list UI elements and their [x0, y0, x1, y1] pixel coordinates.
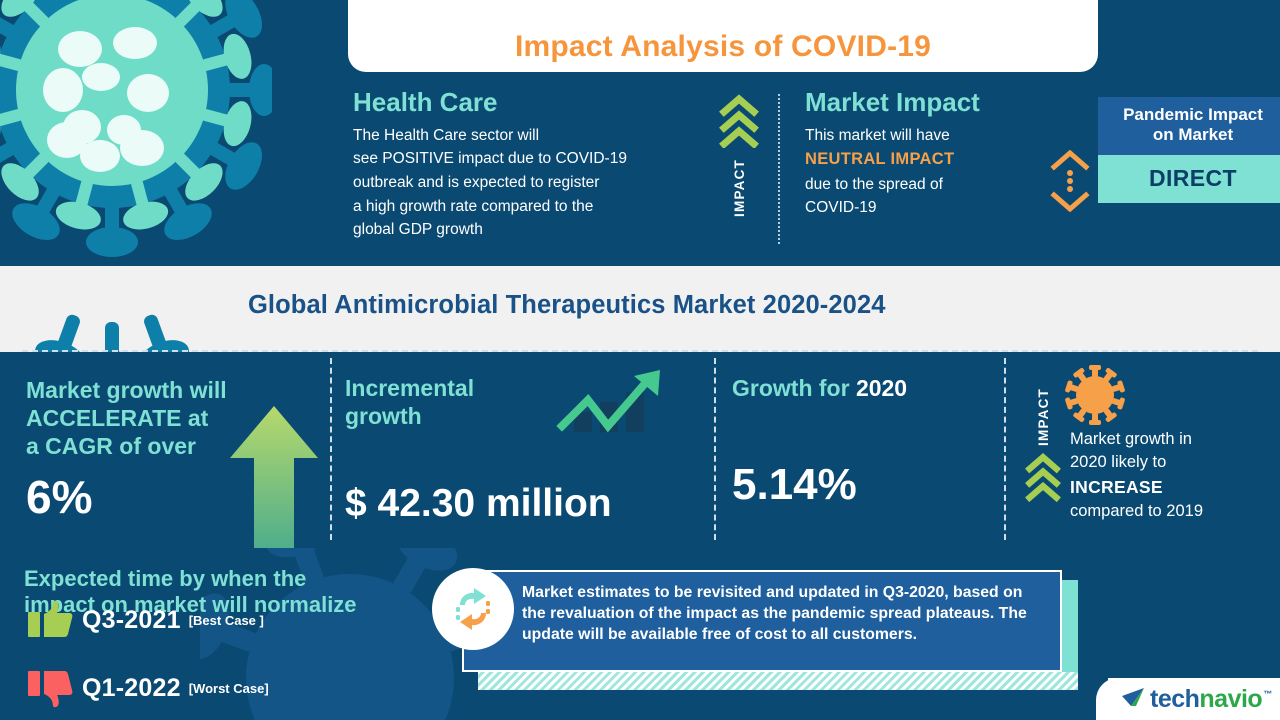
impact-right-vertical-group: IMPACT	[1022, 388, 1064, 538]
worst-case-tag: [Worst Case]	[189, 681, 269, 696]
virus-legs-decoration	[0, 266, 272, 352]
page-title-pill: Impact Analysis of COVID-19	[348, 0, 1098, 72]
worst-case-quarter: Q1-2022	[82, 674, 181, 703]
mi-highlight: NEUTRAL IMPACT	[805, 147, 1020, 172]
market-impact-body: This market will have NEUTRAL IMPACT due…	[805, 124, 1020, 220]
pandemic-impact-value: DIRECT	[1098, 155, 1280, 203]
impact-right-highlight: INCREASE	[1070, 475, 1272, 500]
impact-right-label: IMPACT	[1036, 388, 1051, 446]
pandemic-heading-line1: Pandemic Impact	[1108, 105, 1278, 125]
hc-line-1: The Health Care sector will	[353, 124, 713, 148]
divider-top-1	[778, 94, 780, 244]
impact-vertical-label: IMPACT	[732, 159, 747, 217]
mi-line-3: COVID-19	[805, 196, 1020, 220]
impact-indicator-top: IMPACT	[718, 94, 760, 244]
mi-line-2: due to the spread of	[805, 173, 1020, 197]
green-up-arrow-icon	[228, 404, 320, 548]
incremental-value: $ 42.30 million	[345, 482, 645, 526]
divider-mid-1	[330, 358, 332, 540]
divider-mid-3	[1004, 358, 1006, 540]
infographic-canvas: Impact Analysis of COVID-19 Health Care …	[0, 0, 1280, 720]
mi-line-1: This market will have	[805, 124, 1020, 148]
refresh-cycle-badge	[432, 568, 514, 650]
market-impact-column: Market Impact This market will have NEUT…	[805, 88, 1020, 220]
market-estimate-note: Market estimates to be revisited and upd…	[462, 570, 1062, 672]
impact-indicator-right: IMPACT	[1022, 370, 1272, 530]
note-text: Market estimates to be revisited and upd…	[522, 582, 1046, 645]
best-case-row: Q3-2021 [Best Case ]	[26, 600, 264, 640]
divider-mid-2	[714, 358, 716, 540]
report-title-band: Global Antimicrobial Therapeutics Market…	[0, 266, 1280, 352]
virus-illustration	[0, 0, 272, 266]
page-title: Impact Analysis of COVID-19	[515, 30, 931, 64]
pandemic-impact-card: Pandemic Impact on Market DIRECT	[1098, 97, 1280, 203]
growth-2020-label-prefix: Growth for	[732, 375, 856, 401]
market-impact-heading: Market Impact	[805, 88, 1020, 118]
logo-part-navio: navio	[1199, 685, 1262, 714]
health-care-column: Health Care The Health Care sector will …	[353, 88, 713, 242]
growth-2020-value: 5.14%	[732, 460, 992, 510]
hc-line-3: outbreak and is expected to register	[353, 171, 713, 195]
pandemic-impact-heading: Pandemic Impact on Market	[1098, 97, 1280, 155]
impact-right-text: Market growth in 2020 likely to INCREASE…	[1070, 428, 1272, 523]
thumbs-up-icon	[26, 600, 74, 640]
technavio-logo: technavio™	[1108, 678, 1280, 720]
impact-right-line3: compared to 2019	[1070, 500, 1272, 523]
growth-2020-label-year: 2020	[856, 375, 907, 401]
orange-virus-icon	[1064, 364, 1126, 426]
pandemic-heading-line2: on Market	[1108, 125, 1278, 145]
worst-case-row: Q1-2022 [Worst Case]	[26, 668, 269, 708]
hc-line-4: a high growth rate compared to the	[353, 195, 713, 219]
growth-2020-label: Growth for 2020	[732, 374, 992, 402]
growth-2020-metric: Growth for 2020 5.14%	[732, 374, 992, 510]
best-case-quarter: Q3-2021	[82, 606, 181, 635]
refresh-cycle-icon	[447, 583, 499, 635]
cagr-label-line1: Market growth will	[26, 376, 286, 404]
hc-line-5: global GDP growth	[353, 218, 713, 242]
thumbs-down-icon	[26, 668, 74, 708]
health-care-body: The Health Care sector will see POSITIVE…	[353, 124, 713, 242]
best-case-tag: [Best Case ]	[189, 613, 264, 628]
normalize-title-line1: Expected time by when the	[24, 566, 424, 592]
health-care-heading: Health Care	[353, 88, 713, 118]
impact-right-line2: 2020 likely to	[1070, 451, 1272, 474]
technavio-wordmark: technavio™	[1150, 685, 1272, 714]
technavio-mark-icon	[1120, 686, 1146, 713]
report-title: Global Antimicrobial Therapeutics Market…	[248, 291, 886, 320]
top-impact-band: Impact Analysis of COVID-19 Health Care …	[0, 0, 1280, 266]
note-hatch-decoration	[478, 672, 1078, 690]
logo-part-tech: tech	[1150, 685, 1199, 714]
divider-mid-top	[22, 350, 1258, 352]
neutral-updown-arrows-icon	[1048, 150, 1092, 212]
impact-right-line1: Market growth in	[1070, 428, 1272, 451]
chevron-up-stack-icon-right	[1025, 452, 1061, 507]
hc-line-2: see POSITIVE impact due to COVID-19	[353, 147, 713, 171]
trend-up-chart-icon	[556, 366, 668, 438]
logo-trademark: ™	[1263, 689, 1272, 699]
chevron-up-stack-icon	[719, 94, 759, 153]
